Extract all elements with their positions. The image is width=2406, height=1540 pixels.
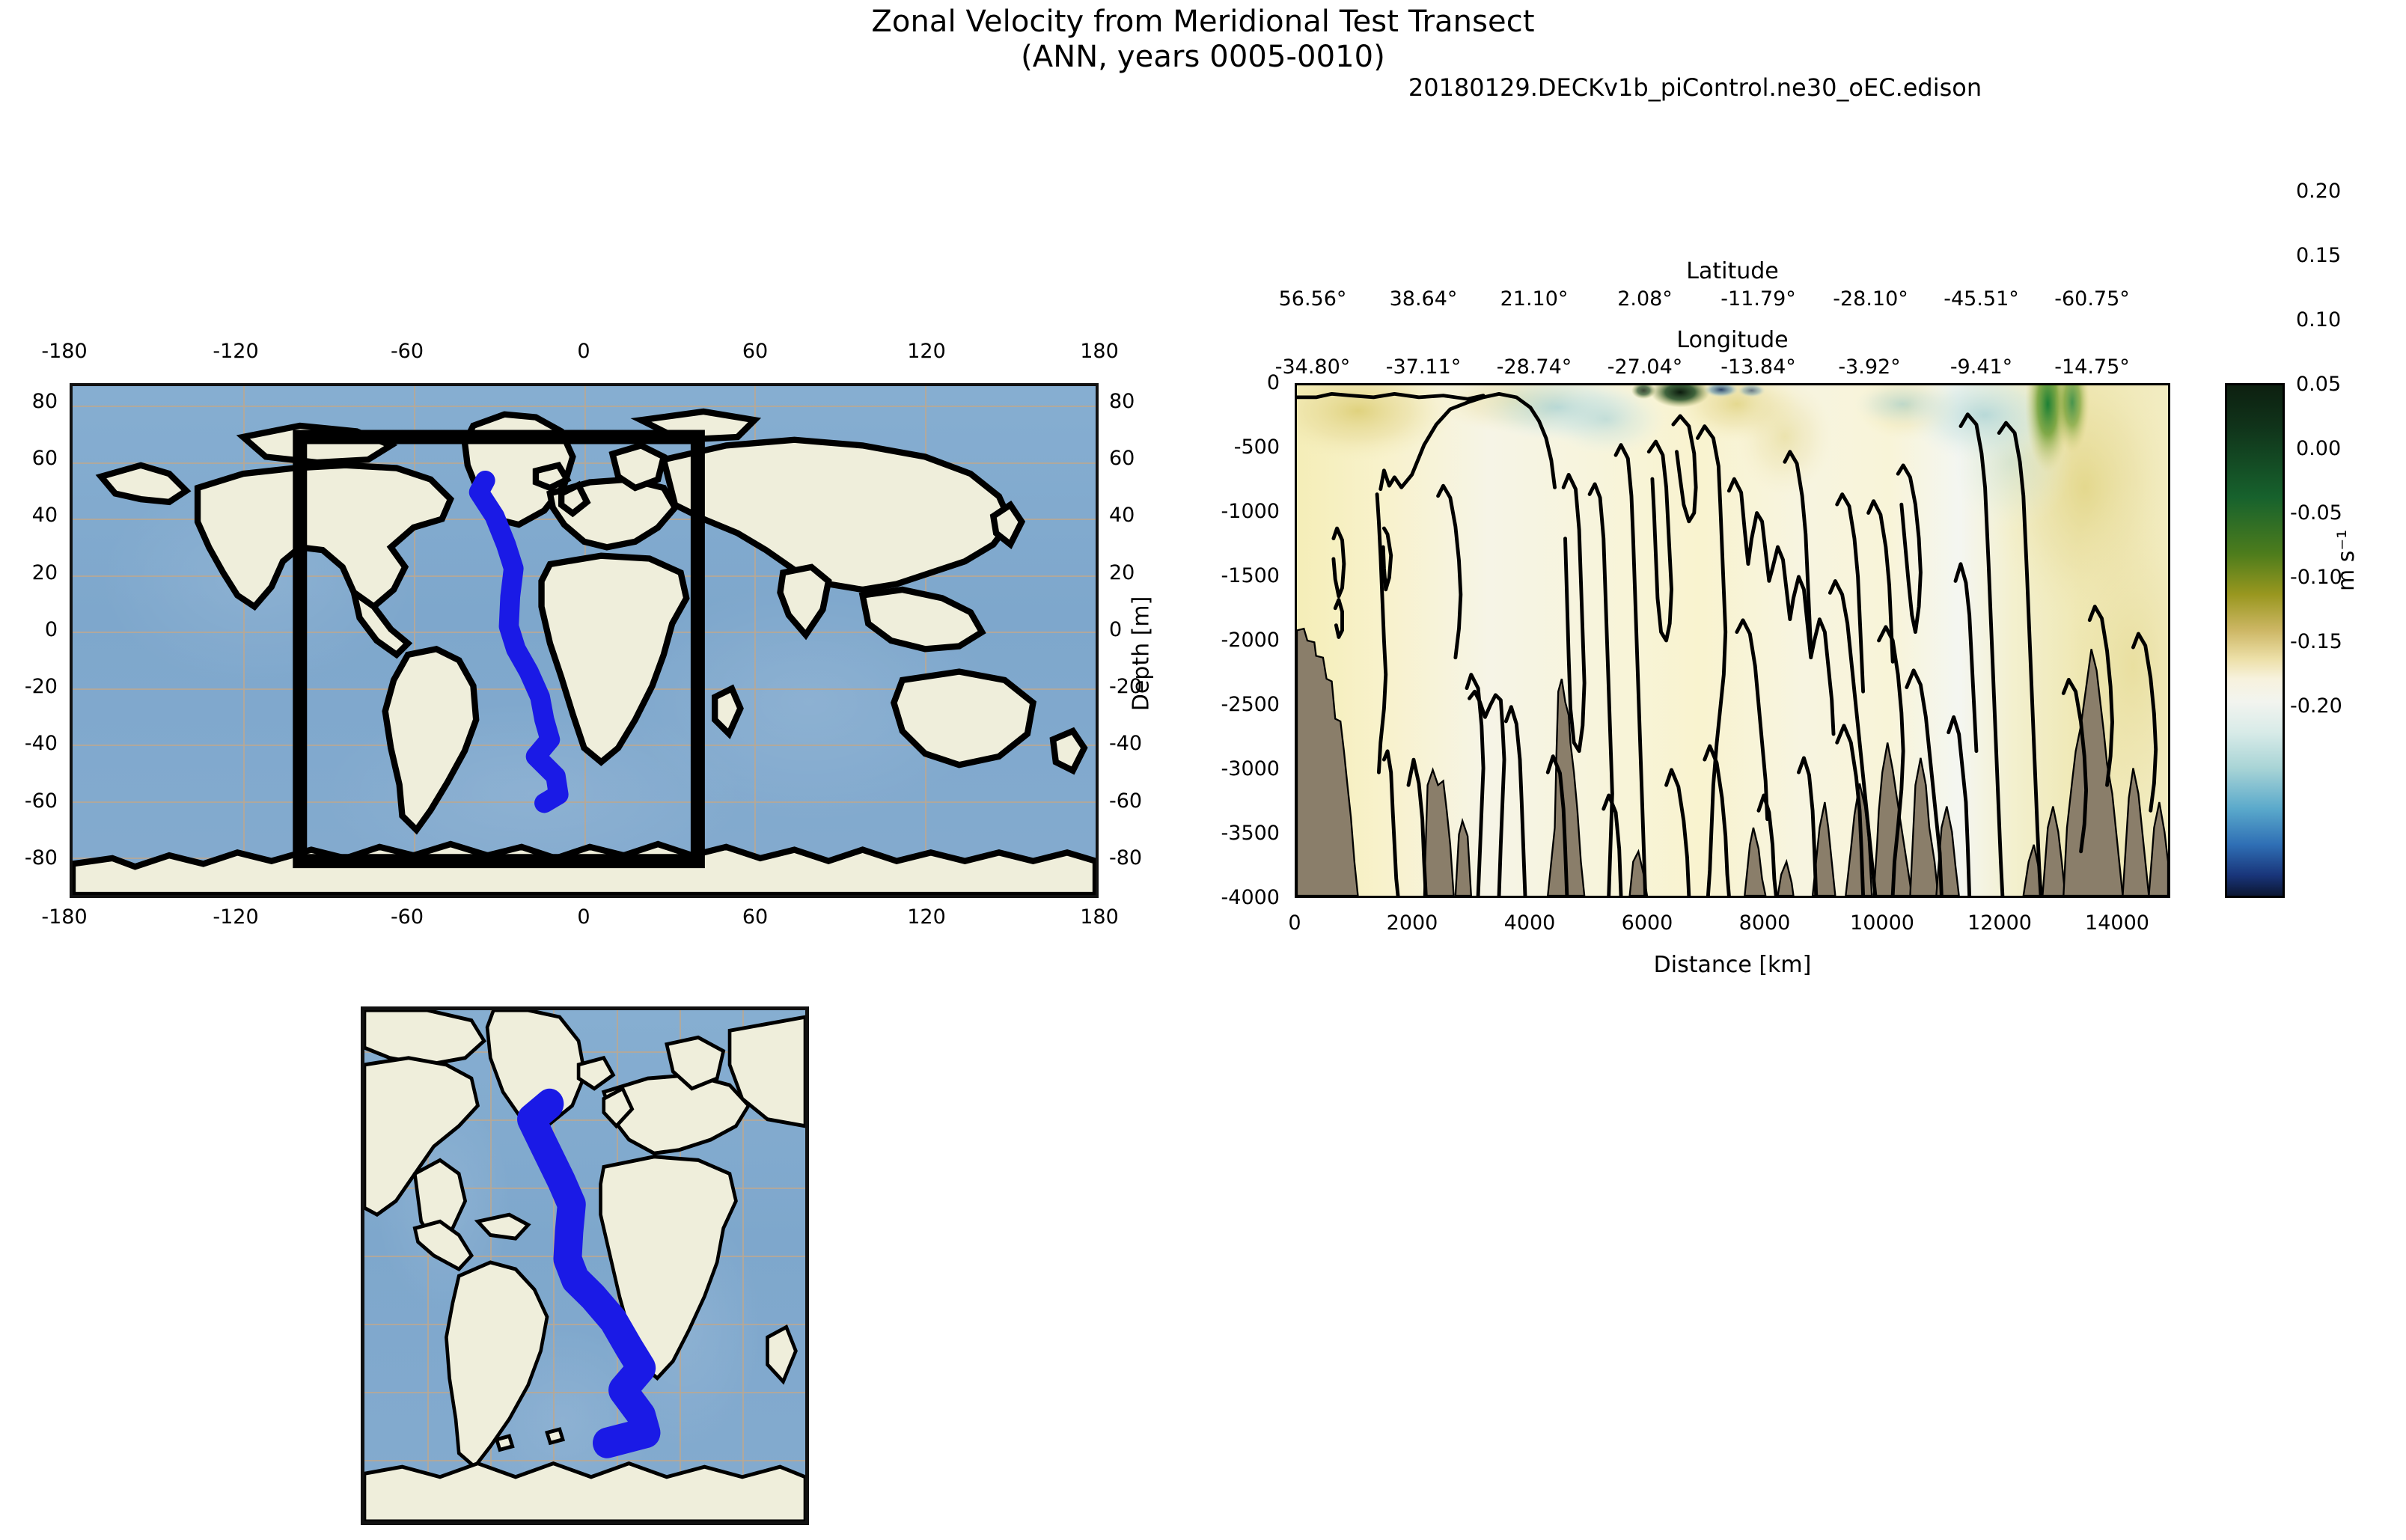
figure-title-line1: Zonal Velocity from Meridional Test Tran… <box>871 4 1534 39</box>
figure-title-line2: (ANN, years 0005-0010) <box>0 40 2406 75</box>
latitude-tick-4: -11.79° <box>1693 287 1824 311</box>
world-map-frame <box>70 383 1099 898</box>
distance-tick-0: 0 <box>1265 911 1325 935</box>
depth-tick-3: -1500 <box>1169 564 1280 587</box>
worldmap-xtick-top-4: 60 <box>721 340 789 363</box>
worldmap-ytick-left-7: -60 <box>1 789 58 813</box>
inset-transect-overlay <box>364 1010 805 1521</box>
latitude-tick-0: 56.56° <box>1253 287 1373 311</box>
worldmap-ytick-left-3: 20 <box>11 561 58 584</box>
velocity-field <box>1297 385 2168 896</box>
worldmap-ytick-right-1: 60 <box>1109 447 1155 470</box>
longitude-tick-4: -13.84° <box>1693 355 1824 379</box>
longitude-tick-3: -27.04° <box>1585 355 1705 379</box>
colorbar-tick-0: 0.20 <box>2296 180 2406 203</box>
worldmap-xtick-top-1: -120 <box>202 340 269 363</box>
worldmap-xtick-top-0: -180 <box>31 340 98 363</box>
longitude-tick-7: -14.75° <box>2027 355 2158 379</box>
distance-tick-5: 10000 <box>1845 911 1920 935</box>
worldmap-ytick-left-8: -80 <box>1 846 58 870</box>
worldmap-ytick-right-0: 80 <box>1109 390 1155 413</box>
worldmap-xtick-bottom-3: 0 <box>550 905 617 929</box>
worldmap-ytick-right-8: -80 <box>1109 846 1166 870</box>
worldmap-xtick-top-6: 180 <box>1066 340 1133 363</box>
colorbar-tick-7: -0.15 <box>2290 630 2406 653</box>
distance-tick-3: 6000 <box>1617 911 1677 935</box>
colorbar-tick-5: -0.05 <box>2290 501 2406 525</box>
worldmap-ytick-left-0: 80 <box>11 390 58 413</box>
transect-overlay <box>73 386 1096 895</box>
transect-path <box>479 480 558 803</box>
inset-region-box <box>300 437 698 861</box>
distance-tick-4: 8000 <box>1735 911 1795 935</box>
transect-plot-area <box>1295 383 2170 898</box>
worldmap-xtick-top-2: -60 <box>373 340 441 363</box>
worldmap-xtick-bottom-4: 60 <box>721 905 789 929</box>
transect-plot-panel: Latitude 56.56° 38.64° 21.10° 2.08° -11.… <box>1295 383 2170 898</box>
worldmap-ytick-left-5: -20 <box>1 675 58 698</box>
colorbar[interactable] <box>2225 383 2285 898</box>
inset-map-frame <box>361 1006 809 1525</box>
transect-panel-title: 20180129.DECKv1b_piControl.ne30_oEC.edis… <box>1197 73 2193 102</box>
depth-tick-1: -500 <box>1169 436 1280 459</box>
worldmap-ytick-left-4: 0 <box>11 618 58 641</box>
worldmap-xtick-bottom-0: -180 <box>31 905 98 929</box>
colorbar-tick-8: -0.20 <box>2290 694 2406 718</box>
worldmap-xtick-bottom-2: -60 <box>373 905 441 929</box>
depth-tick-7: -3500 <box>1169 822 1280 845</box>
worldmap-ytick-right-3: 20 <box>1109 561 1155 584</box>
figure-title: Zonal Velocity from Meridional Test Tran… <box>0 4 2406 75</box>
latitude-tick-1: 38.64° <box>1364 287 1483 311</box>
latitude-tick-7: -60.75° <box>2027 287 2158 311</box>
colorbar-gradient <box>2227 385 2283 896</box>
worldmap-ytick-left-2: 40 <box>11 504 58 527</box>
distance-tick-2: 4000 <box>1500 911 1560 935</box>
worldmap-xtick-bottom-1: -120 <box>202 905 269 929</box>
inset-map-panel <box>361 1006 809 1525</box>
longitude-tick-2: -28.74° <box>1474 355 1594 379</box>
worldmap-ytick-right-7: -60 <box>1109 789 1166 813</box>
colorbar-tick-1: 0.15 <box>2296 244 2406 267</box>
depth-tick-5: -2500 <box>1169 693 1280 716</box>
latitude-tick-2: 21.10° <box>1474 287 1594 311</box>
worldmap-ytick-right-2: 40 <box>1109 504 1155 527</box>
worldmap-xtick-bottom-5: 120 <box>893 905 960 929</box>
longitude-axis-label: Longitude <box>1295 327 2170 353</box>
worldmap-xtick-top-3: 0 <box>550 340 617 363</box>
latitude-axis-label: Latitude <box>1295 258 2170 284</box>
depth-tick-4: -2000 <box>1169 629 1280 652</box>
worldmap-ytick-right-6: -40 <box>1109 732 1166 755</box>
worldmap-xtick-top-5: 120 <box>893 340 960 363</box>
colorbar-tick-3: 0.05 <box>2296 373 2406 396</box>
depth-axis-label: Depth [m] <box>1128 596 1154 712</box>
distance-tick-7: 14000 <box>2080 911 2155 935</box>
worldmap-ytick-left-6: -40 <box>1 732 58 755</box>
depth-tick-0: 0 <box>1190 371 1280 394</box>
inset-transect-path <box>531 1104 647 1443</box>
worldmap-xtick-bottom-6: 180 <box>1066 905 1133 929</box>
longitude-tick-5: -3.92° <box>1810 355 1929 379</box>
depth-tick-2: -1000 <box>1169 500 1280 523</box>
world-map-panel: -180 -120 -60 0 60 120 180 -180 -120 -60… <box>70 383 1099 898</box>
worldmap-ytick-left-1: 60 <box>11 447 58 470</box>
distance-tick-6: 12000 <box>1962 911 2037 935</box>
distance-axis-label: Distance [km] <box>1295 952 2170 978</box>
distance-tick-1: 2000 <box>1382 911 1442 935</box>
colorbar-unit-label: m s⁻¹ <box>2333 530 2360 591</box>
longitude-tick-1: -37.11° <box>1364 355 1483 379</box>
depth-tick-8: -4000 <box>1169 886 1280 909</box>
latitude-tick-3: 2.08° <box>1585 287 1705 311</box>
depth-tick-6: -3000 <box>1169 757 1280 780</box>
colorbar-tick-2: 0.10 <box>2296 308 2406 331</box>
colorbar-tick-4: 0.00 <box>2296 437 2406 460</box>
